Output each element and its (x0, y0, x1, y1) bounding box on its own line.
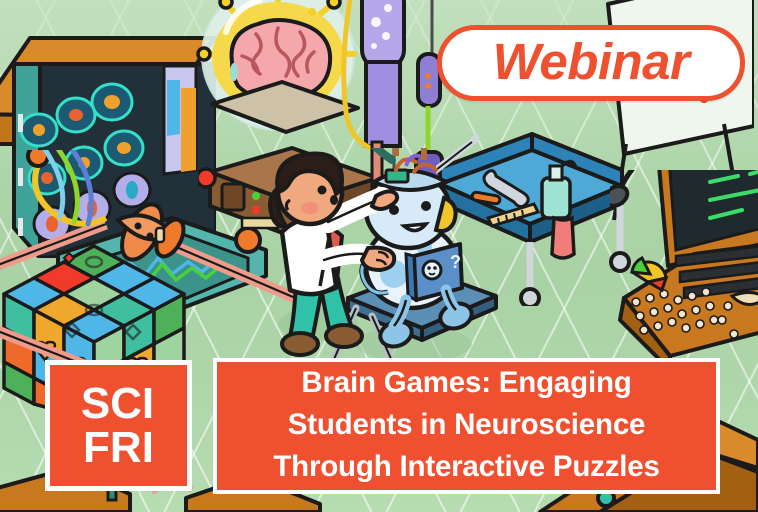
webinar-badge: Webinar (437, 25, 745, 101)
scientist-and-robot: ? (246, 148, 506, 378)
scifri-logo-line1: SCI (81, 382, 154, 425)
poster-canvas: ? (0, 0, 758, 512)
title-line-1: Brain Games: Engaging (301, 362, 631, 404)
title-line-3: Through Interactive Puzzles (273, 446, 659, 488)
scifri-logo-line2: FRI (83, 426, 154, 469)
webinar-badge-label: Webinar (493, 36, 690, 87)
scifri-logo: SCI FRI (45, 360, 192, 491)
retro-terminal (610, 170, 758, 370)
title-line-2: Students in Neuroscience (288, 404, 645, 446)
webinar-title-block: Brain Games: Engaging Students in Neuros… (213, 358, 720, 494)
robot-book-question-mark: ? (450, 252, 461, 272)
